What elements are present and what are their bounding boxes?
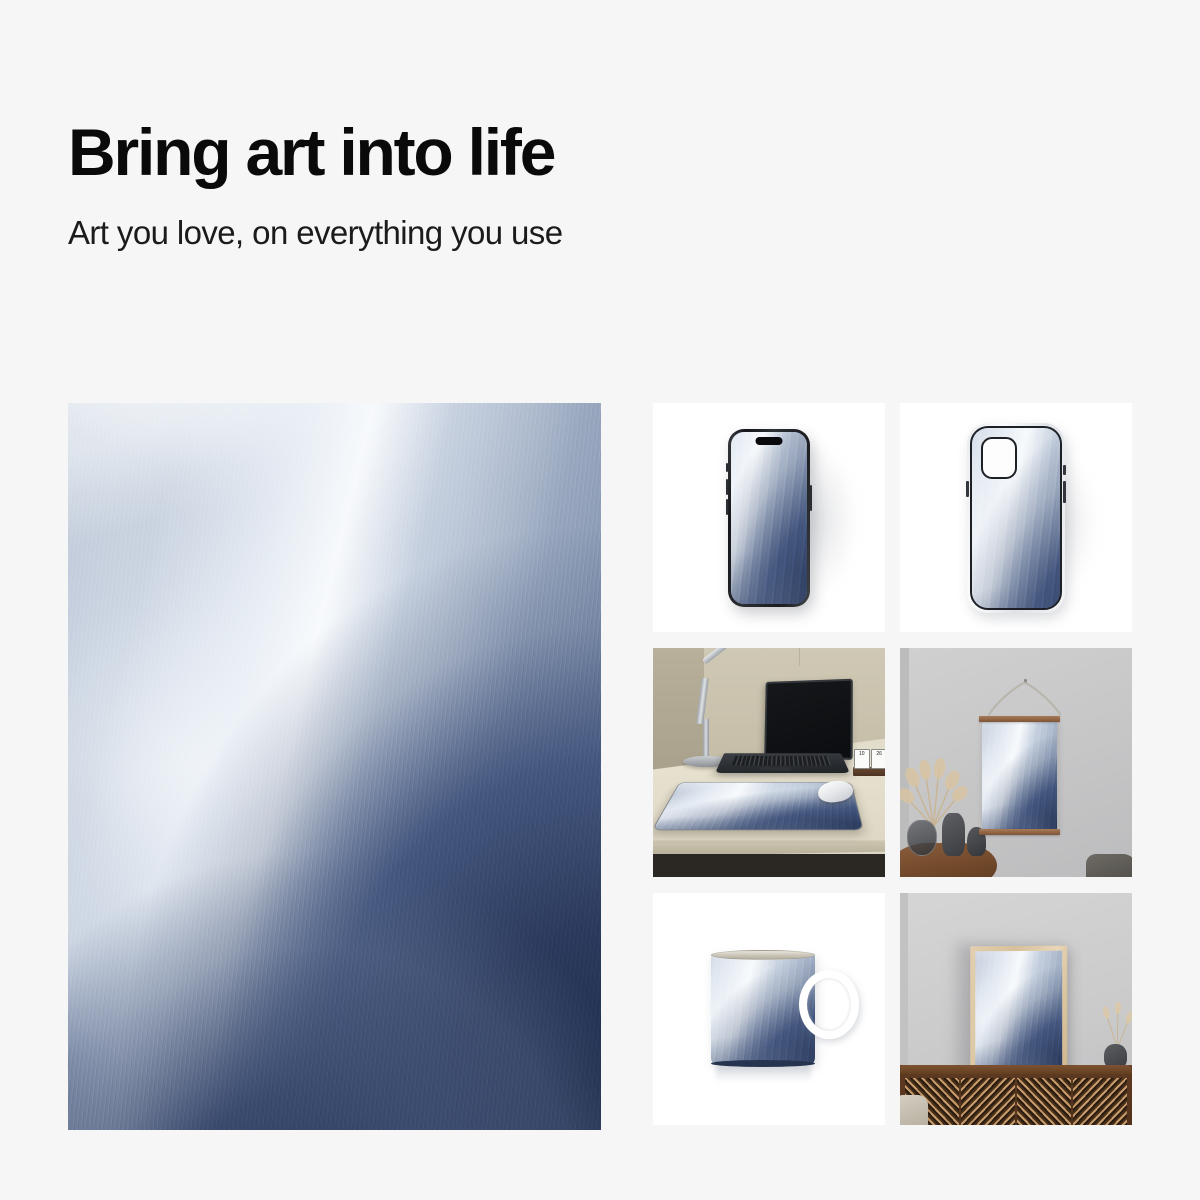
armchair: [900, 1095, 928, 1125]
mug-handle: [799, 970, 859, 1040]
phone-scene: [653, 403, 885, 632]
artwork-on-hanging-poster: [982, 721, 1056, 830]
dried-grass: [1095, 1002, 1132, 1048]
mug-reflection: [716, 1065, 811, 1084]
phone-volume-up-button: [726, 479, 728, 495]
product-tile-desk-mat[interactable]: 10 26: [653, 648, 885, 877]
calendar-month-value: 10: [859, 751, 865, 757]
phone-screen: [731, 432, 807, 604]
desk-scene: 10 26: [653, 648, 885, 877]
sideboard-door: [1017, 1078, 1071, 1125]
sideboard: [900, 1065, 1132, 1125]
ceramic-vase-tall: [942, 813, 965, 857]
laptop-trackpad: [760, 767, 792, 771]
poster-rail-top: [979, 716, 1059, 722]
phone-mute-button: [726, 463, 728, 472]
phone-volume-down-button: [726, 499, 728, 515]
hanging-poster-scene: [900, 648, 1132, 877]
artwork-on-framed-poster: [975, 951, 1062, 1074]
product-tile-phone-wallpaper[interactable]: [653, 403, 885, 632]
sideboard-top: [900, 1065, 1132, 1075]
camera-cutout-icon: [981, 437, 1017, 479]
laptop-base: [716, 753, 851, 773]
framed-poster-scene: [900, 893, 1132, 1125]
phone-device: [728, 429, 810, 607]
calendar-day: 26: [871, 749, 885, 770]
phone-case-scene: [900, 403, 1132, 632]
page-title: Bring art into life: [68, 118, 1068, 187]
mug-bottom: [711, 1060, 815, 1067]
case-button-right-upper: [1063, 465, 1066, 475]
dynamic-island-icon: [756, 437, 783, 445]
picture-frame: [970, 946, 1067, 1079]
phone-case-back: [970, 426, 1062, 610]
glass-vase: [907, 820, 937, 857]
under-desk-shadow: [653, 854, 885, 877]
poster-rail-bottom: [979, 829, 1059, 835]
case-button-right-lower: [1063, 481, 1066, 503]
product-tile-phone-case[interactable]: [900, 403, 1132, 632]
page-subtitle: Art you love, on everything you use: [68, 213, 1068, 253]
product-tile-framed-poster[interactable]: [900, 893, 1132, 1125]
product-showcase-page: Bring art into life Art you love, on eve…: [0, 0, 1200, 1200]
product-grid: 10 26: [653, 403, 1132, 1130]
poster-rope: [984, 682, 1065, 716]
phone-power-button: [810, 485, 812, 511]
sofa: [1086, 854, 1132, 877]
mug-scene: [653, 893, 885, 1125]
hero-artwork[interactable]: [68, 403, 601, 1130]
sideboard-door: [961, 1078, 1015, 1125]
case-button-left: [966, 481, 969, 497]
header: Bring art into life Art you love, on eve…: [68, 118, 1068, 253]
phone-case-device: [967, 423, 1065, 613]
desk-lamp-pole: [703, 719, 709, 760]
product-tile-mug[interactable]: [653, 893, 885, 1125]
calendar-day-value: 26: [876, 751, 882, 757]
sideboard-doors: [905, 1078, 1128, 1125]
calendar-month: 10: [854, 749, 870, 770]
artwork-image: [68, 403, 601, 1130]
product-tile-hanging-poster[interactable]: [900, 648, 1132, 877]
hanging-poster-product: [982, 716, 1056, 835]
laptop-screen: [764, 679, 853, 760]
hanging-cord: [799, 648, 800, 666]
mug-rim: [711, 950, 815, 960]
artwork-on-phone: [731, 432, 807, 604]
laptop-keyboard: [732, 756, 832, 765]
sideboard-door: [1073, 1078, 1127, 1125]
